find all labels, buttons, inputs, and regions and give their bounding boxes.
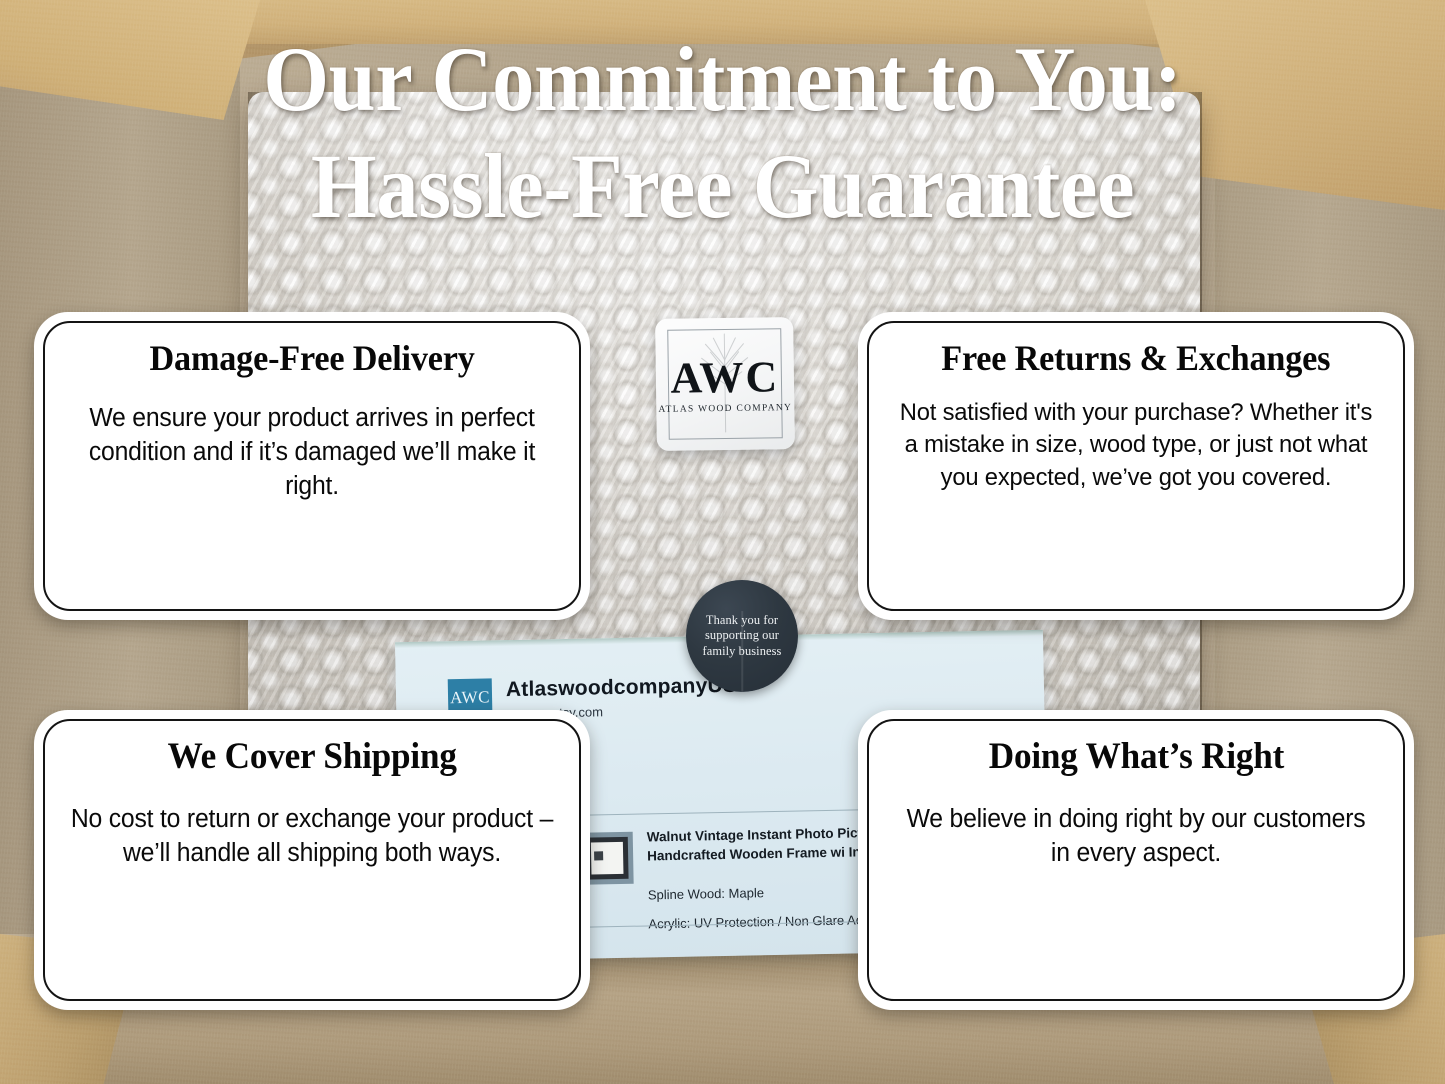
card-doing-whats-right: Doing What’s Right We believe in doing r… <box>858 710 1414 1010</box>
packing-slip-shop-name: AtlaswoodcompanyUS <box>506 674 738 702</box>
awc-monogram: AWC <box>656 355 795 401</box>
card-we-cover-shipping-title: We Cover Shipping <box>167 737 456 778</box>
card-free-returns-exchanges-body: Not satisfied with your purchase? Whethe… <box>894 397 1377 495</box>
awc-brand-sticker: AWC ATLAS WOOD COMPANY <box>655 317 795 451</box>
card-we-cover-shipping: We Cover Shipping No cost to return or e… <box>34 710 590 1010</box>
card-damage-free-delivery-title: Damage-Free Delivery <box>149 339 474 379</box>
card-damage-free-delivery-inner: Damage-Free Delivery We ensure your prod… <box>43 321 581 611</box>
page-title-line-2: Hassle-Free Guarantee <box>58 133 1387 240</box>
thumbnail-frame <box>586 837 629 880</box>
card-doing-whats-right-title: Doing What’s Right <box>988 737 1283 778</box>
card-damage-free-delivery-body: We ensure your product arrives in perfec… <box>70 401 553 503</box>
card-doing-whats-right-body: We believe in doing right by our custome… <box>894 802 1377 870</box>
card-we-cover-shipping-inner: We Cover Shipping No cost to return or e… <box>43 719 581 1001</box>
card-free-returns-exchanges: Free Returns & Exchanges Not satisfied w… <box>858 312 1414 620</box>
card-damage-free-delivery: Damage-Free Delivery We ensure your prod… <box>34 312 590 620</box>
packing-slip-attribute-spline-wood: Spline Wood: Maple <box>648 885 764 902</box>
page-title: Our Commitment to You: Hassle-Free Guara… <box>58 26 1387 239</box>
card-doing-whats-right-inner: Doing What’s Right We believe in doing r… <box>867 719 1405 1001</box>
card-free-returns-exchanges-title: Free Returns & Exchanges <box>941 339 1330 379</box>
thank-you-sticker: Thank you for supporting our family busi… <box>686 580 798 692</box>
card-free-returns-exchanges-inner: Free Returns & Exchanges Not satisfied w… <box>867 321 1405 611</box>
card-we-cover-shipping-body: No cost to return or exchange your produ… <box>70 802 553 870</box>
awc-company-name: ATLAS WOOD COMPANY <box>656 403 794 415</box>
sticker-tree-stem <box>741 611 743 692</box>
guarantee-graphic: AWC AtlaswoodcompanyUS panyus.etsy.com m… <box>0 0 1445 1084</box>
page-title-line-1: Our Commitment to You: <box>263 28 1181 130</box>
thumbnail-photo <box>591 842 624 875</box>
